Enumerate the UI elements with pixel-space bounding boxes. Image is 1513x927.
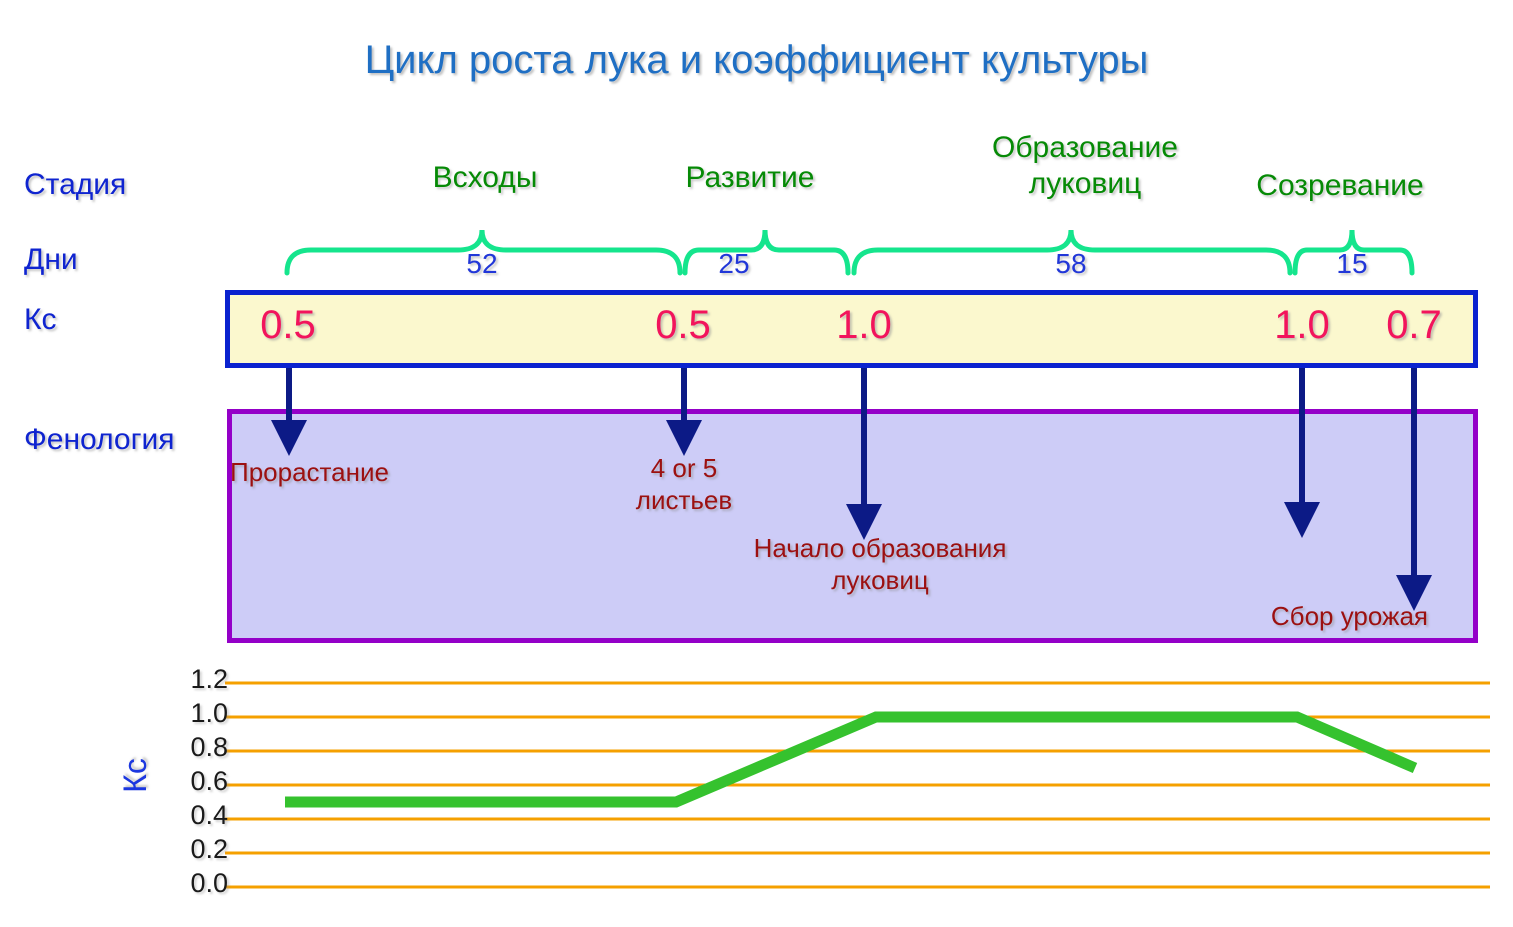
row-label-kc: Кс xyxy=(24,303,56,337)
kc-value-end-emergence: 0.5 xyxy=(623,303,743,348)
pheno-label-harvest: Сбор урожая xyxy=(1108,600,1428,632)
stage-name-development: Развитие xyxy=(600,160,900,196)
diagram-canvas: Цикл роста лука и коэффициент культуры С… xyxy=(0,0,1513,927)
kc-value-harvest: 0.7 xyxy=(1354,303,1474,348)
stage-name-ripening: Созревание xyxy=(1190,168,1490,204)
days-development: 25 xyxy=(666,248,802,280)
ytick-0-8: 0.8 xyxy=(168,732,228,763)
kc-curve xyxy=(285,717,1415,802)
pheno-label-leaves: 4 or 5 листьев xyxy=(574,452,794,516)
ytick-0-2: 0.2 xyxy=(168,834,228,865)
row-label-phenology: Фенология xyxy=(24,423,175,457)
ytick-0-4: 0.4 xyxy=(168,800,228,831)
kc-value-initial: 0.5 xyxy=(228,303,348,348)
days-ripening: 15 xyxy=(1292,248,1412,280)
ytick-1-0: 1.0 xyxy=(168,698,228,729)
ytick-1-2: 1.2 xyxy=(168,664,228,695)
pheno-label-bulb-start: Начало образования луковиц xyxy=(700,532,1060,596)
page-title: Цикл роста лука и коэффициент культуры xyxy=(0,38,1513,83)
kc-value-mid: 1.0 xyxy=(804,303,924,348)
ytick-0-6: 0.6 xyxy=(168,766,228,797)
chart-y-axis-label: Кс xyxy=(117,758,154,793)
stage-name-emergence: Всходы xyxy=(335,160,635,196)
kc-value-late: 1.0 xyxy=(1242,303,1362,348)
row-label-stage: Стадия xyxy=(24,168,126,202)
days-bulb-formation: 58 xyxy=(971,248,1171,280)
days-emergence: 52 xyxy=(382,248,582,280)
pheno-label-germination: Прорастание xyxy=(230,456,490,488)
ytick-0-0: 0.0 xyxy=(168,868,228,899)
